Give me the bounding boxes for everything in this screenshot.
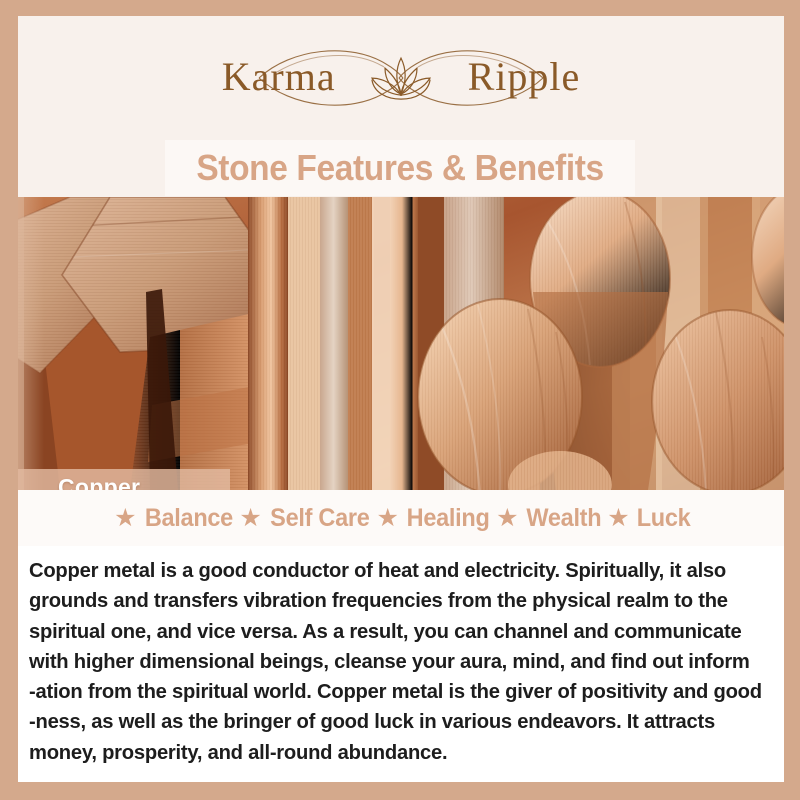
star-icon: ★ [239,506,261,531]
copper-photo: Copper [18,197,784,490]
description-line: with higher dimensional beings, cleanse … [29,647,759,677]
benefit-item-luck: ★ Luck [603,504,692,533]
star-icon: ★ [607,506,629,531]
brand-name-left: Karma [222,57,336,97]
description-line: Copper metal is a good conductor of heat… [29,556,759,586]
stone-name-overlay: Copper [18,469,230,490]
description-line: grounds and transfers vibration frequenc… [29,586,759,616]
description-line: -ation from the spiritual world. Copper … [29,677,759,707]
benefit-item-balance: ★ Balance [110,504,235,533]
brand-lockup: Karma Ripple [181,32,621,122]
description-block: Copper metal is a good conductor of heat… [18,546,784,782]
brand-name-right: Ripple [468,57,581,97]
benefit-label: Balance [144,504,232,533]
description-line: spiritual one, and vice versa. As a resu… [29,617,759,647]
benefit-label: Wealth [526,504,601,533]
page-title: Stone Features & Benefits [196,147,603,189]
benefit-item-wealth: ★ Wealth [492,504,603,533]
benefit-item-self-care: ★ Self Care [235,504,372,533]
benefit-label: Luck [636,504,690,533]
benefit-item-healing: ★ Healing [373,504,493,533]
benefits-row: ★ Balance ★ Self Care ★ Healing ★ Wealth… [18,490,784,546]
brand-header: Karma Ripple [18,16,784,138]
description-line: -ness, as well as the bringer of good lu… [29,707,759,737]
title-banner: Stone Features & Benefits [165,140,635,196]
stone-name-label: Copper [58,474,140,490]
benefit-label: Self Care [270,504,369,533]
poster-root: Karma Ripple [0,0,800,800]
lotus-icon [362,50,440,106]
benefit-label: Healing [407,504,490,533]
star-icon: ★ [114,506,136,531]
copper-photo-image [18,197,784,490]
inner-panel: Karma Ripple [18,16,784,782]
star-icon: ★ [377,506,399,531]
star-icon: ★ [496,506,518,531]
description-line: money, prosperity, and all-round abundan… [29,738,759,768]
